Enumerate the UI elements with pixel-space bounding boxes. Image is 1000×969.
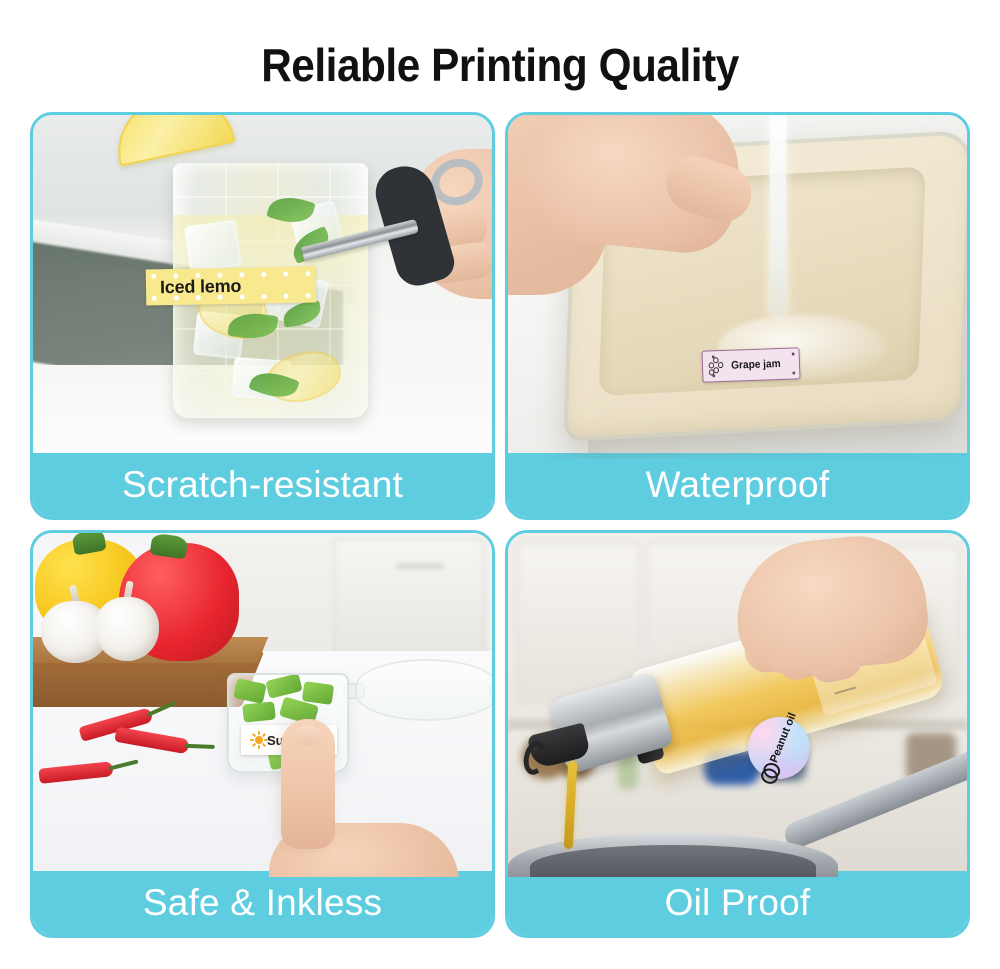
photo-pouring-oil: Peanut oil (508, 533, 967, 877)
kitchen-cabinet (334, 539, 484, 659)
sticker-label-text: Iced lemo (146, 275, 242, 298)
sticker-grape-jam: Grape jam (701, 347, 800, 382)
ice-cube (184, 220, 242, 273)
sticker-peanut-oil: Peanut oil (748, 717, 810, 779)
fingernail (295, 725, 321, 745)
garlic-bulb (95, 597, 159, 661)
chopped-green-pepper (233, 678, 267, 704)
panel-safe-inkless[interactable]: Sun Safe & Inkless (30, 530, 495, 938)
cabinet-handle (397, 564, 443, 568)
caption-oil-proof: Oil Proof (508, 871, 967, 935)
running-water-stream (770, 115, 786, 317)
chopped-green-pepper (302, 681, 334, 705)
grapes-icon (708, 357, 723, 376)
sticker-corner-dot (792, 371, 795, 374)
caption-waterproof: Waterproof (508, 453, 967, 517)
photo-iced-lemon-glass: Iced lemo (33, 115, 492, 459)
sticker-label-text: Peanut oil (768, 711, 799, 764)
panel-scratch-resistant[interactable]: Iced lemo Scratch-resistant (30, 112, 495, 520)
page-title: Reliable Printing Quality (40, 40, 960, 91)
caption-safe-inkless: Safe & Inkless (33, 871, 492, 935)
kitchen-cabinet (518, 543, 638, 703)
sticker-content: Peanut oil (759, 711, 800, 785)
caption-scratch-resistant: Scratch-resistant (33, 453, 492, 517)
panel-waterproof[interactable]: Grape jam Waterproof (505, 112, 970, 520)
chopped-green-pepper (265, 673, 302, 699)
container-lid (355, 659, 492, 721)
sticker-corner-dot (792, 352, 795, 355)
photo-vegetable-container: Sun (33, 533, 492, 877)
photo-dish-under-water: Grape jam (508, 115, 967, 459)
chopped-green-pepper (242, 701, 276, 722)
sun-icon (246, 732, 262, 748)
feature-grid: Iced lemo Scratch-resistant (30, 112, 970, 938)
sticker-iced-lemon: Iced lemo (146, 267, 317, 306)
panel-oil-proof[interactable]: Peanut oil Oil Proof (505, 530, 970, 938)
sticker-label-text: Grape jam (731, 358, 781, 372)
